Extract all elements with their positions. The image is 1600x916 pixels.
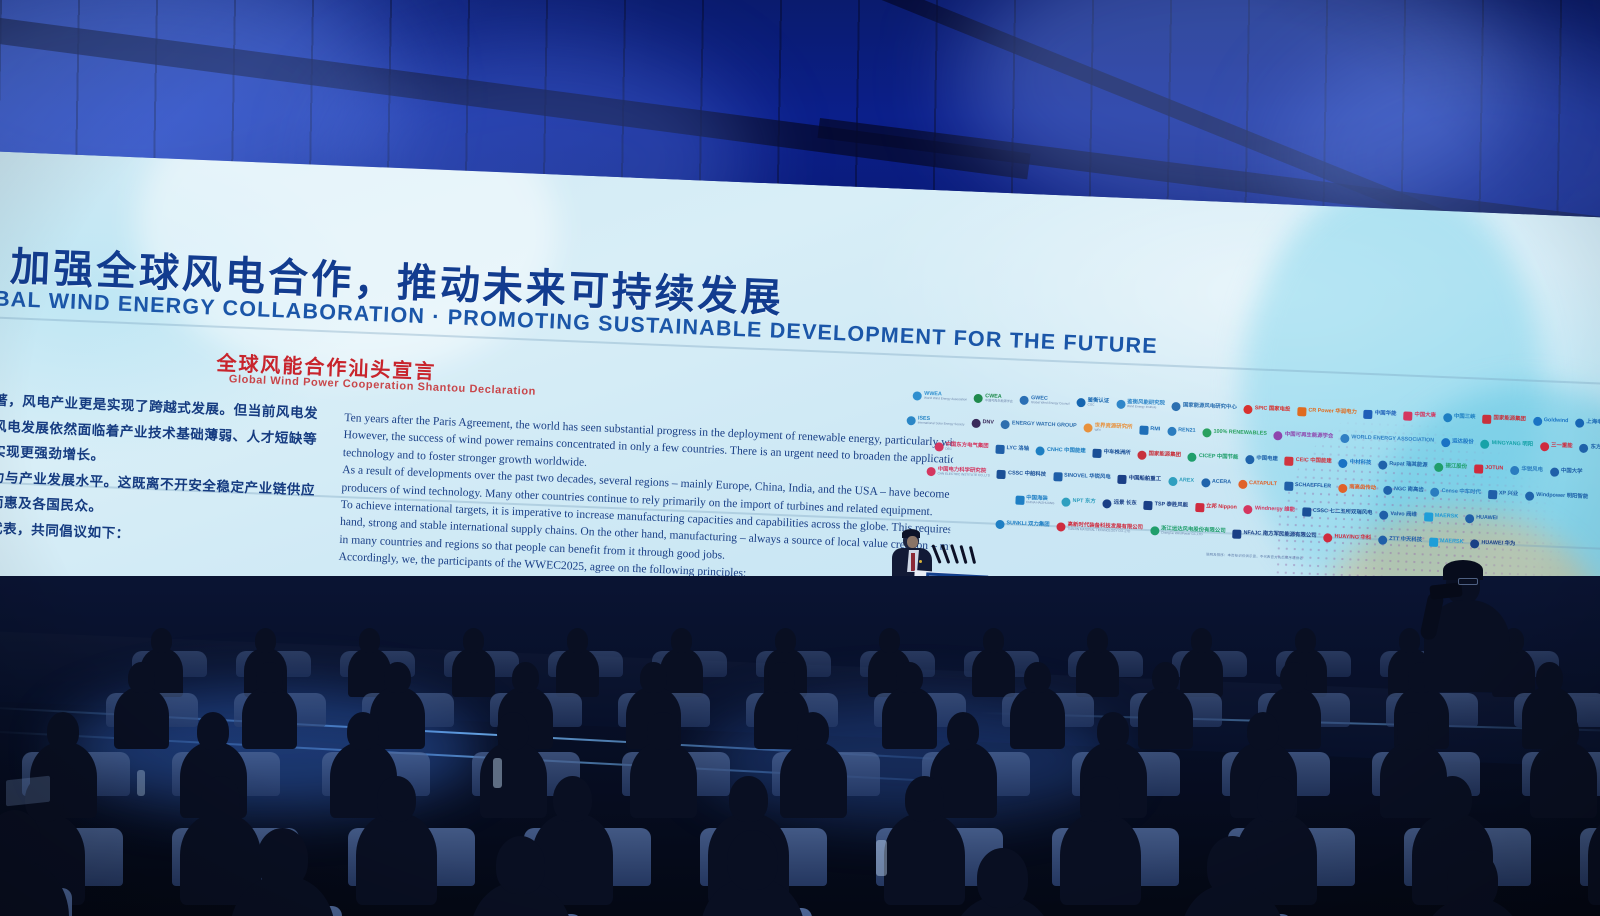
sponsor-logo: CR Power 华润电力 [1297, 407, 1357, 418]
sponsor-logo-name: LYC 洛轴 [1006, 446, 1029, 452]
sponsor-logo-name: 中国华能 [1375, 412, 1397, 418]
sponsor-logo-mark [1168, 476, 1177, 485]
audience-member [972, 628, 1015, 696]
audience-shoulders [1060, 813, 1141, 905]
audience-head [1433, 776, 1472, 822]
audience-head [671, 628, 692, 653]
sponsor-logo-subtitle: World Wind Energy Association [924, 397, 967, 402]
sponsor-logo-name: CICEP 中国节能 [1199, 454, 1239, 461]
audience-head [1207, 836, 1258, 896]
glasses-icon [1458, 578, 1478, 585]
audience-shoulders [452, 648, 495, 698]
sponsor-logo-mark [1238, 479, 1247, 488]
sponsor-logo-name: REN21 [1178, 428, 1196, 434]
audience-head [201, 776, 240, 822]
audience-head [377, 776, 416, 822]
audience-shoulders [630, 742, 697, 818]
audience-shoulders [780, 742, 847, 818]
audience-head [896, 662, 923, 693]
sponsor-logo: 高新时代装备科技发展有限公司TIANJIN MATERIAL TECHNOLOG… [1056, 522, 1143, 535]
audience-member [470, 836, 572, 916]
sponsor-logo: WWEAWorld Wind Energy Association [913, 391, 967, 402]
sponsor-logo-name: ZTT 中天科技 [1389, 537, 1422, 544]
audience-head [797, 712, 829, 750]
audience-head [256, 662, 283, 693]
sponsor-logo-name: 华锐风电 [1521, 468, 1543, 474]
audience-head [640, 662, 667, 693]
audience-head [347, 712, 379, 750]
sponsor-logo-mark [1245, 454, 1254, 463]
sponsor-logo-subtitle: DEC [945, 448, 988, 453]
audience-head [1247, 712, 1279, 750]
audience-member [780, 712, 847, 817]
sponsor-logo: 中材科技 [1339, 458, 1372, 468]
sponsor-logo: HUAYING 华科 [1323, 533, 1371, 544]
sponsor-logo-mark [1001, 419, 1010, 428]
audience-head [1087, 628, 1108, 653]
sponsor-logo-mark [1480, 439, 1489, 448]
sponsor-logo-mark [1540, 442, 1549, 451]
sponsor-logo-mark [1339, 458, 1348, 467]
sponsor-logo-mark [1201, 478, 1210, 487]
sponsor-logo-name: JOTUN [1485, 466, 1503, 472]
sponsor-logo-name: SCHAEFFLER [1295, 483, 1331, 490]
sponsor-logo: 中国大唐 [1403, 411, 1436, 421]
sponsor-logo-name: Windpower 明阳智能 [1536, 493, 1588, 501]
sponsor-logo-mark [1364, 409, 1373, 418]
sponsor-logo: Goldwind [1533, 416, 1569, 426]
sponsor-logo: 中国大学 [1550, 467, 1583, 477]
sponsor-logo-name: CR Power 华润电力 [1308, 409, 1357, 416]
audience-head [983, 628, 1004, 653]
audience-member [556, 628, 599, 696]
sponsor-logo-mark [1378, 535, 1387, 544]
audience-member [1180, 836, 1285, 916]
audience-head [1536, 662, 1563, 693]
sponsor-logo-mark [1053, 472, 1062, 481]
slide-english-body: Ten years after the Paris Agreement, the… [338, 409, 954, 591]
audience-member [1010, 662, 1065, 748]
sponsor-logo: TSP 泰胜风能 [1143, 500, 1188, 511]
sponsor-logo-name: 中国可再生能源学会 [1285, 433, 1334, 440]
sponsor-logo-name: 国家能源集团 [1148, 452, 1181, 459]
sponsor-logo-name: 中材科技 [1350, 461, 1372, 467]
audience-head [1547, 712, 1579, 750]
sponsor-logo: ACERA [1201, 478, 1232, 488]
sponsor-logo: ZTT 中天科技 [1378, 535, 1422, 546]
water-bottle [493, 758, 502, 788]
sponsor-logo-mark [1340, 433, 1349, 442]
sponsor-logo-mark [1470, 539, 1479, 548]
sponsor-logo-name: TSP 泰胜风能 [1154, 503, 1188, 510]
sponsor-logo-mark [1465, 514, 1474, 523]
sponsor-logo-name: MAERSK [1440, 539, 1464, 545]
sponsor-logo: NFAJC 南方军民能源有限公司 [1232, 529, 1316, 541]
audience-head [905, 776, 944, 822]
audience-head [497, 712, 529, 750]
sponsor-logo-mark [1076, 398, 1085, 407]
audience-member [356, 776, 437, 903]
sponsor-logo-subtitle: 中国可再生能源学会 [985, 399, 1013, 403]
sponsor-logo-mark [1150, 526, 1159, 535]
sponsor-logo: 国家能源集团 [1137, 450, 1181, 461]
sponsor-logo: 三一重能 [1540, 442, 1573, 452]
laptop [6, 776, 50, 807]
sponsor-logo: 中国可再生能源学会 [1274, 431, 1334, 442]
sponsor-logo: 中国海装CHINA HAIZHUANG [1015, 495, 1055, 506]
audience-head [512, 662, 539, 693]
sponsor-logo-name: CSSC 中船科技 [1008, 472, 1046, 479]
audience-shoulders [556, 648, 599, 698]
audience-head [128, 662, 155, 693]
audience-head [567, 628, 588, 653]
sponsor-logo-name: 远景 长东 [1113, 501, 1136, 507]
sponsor-logo: 鉴衡风能研究院Wind Energy Institute [1116, 399, 1165, 410]
sponsor-logo-name: 上海电气 [1586, 420, 1600, 426]
sponsor-logo-mark [1143, 500, 1152, 509]
sponsor-logo-mark [1195, 502, 1204, 511]
sponsor-logo: MAERSK [1424, 512, 1459, 522]
audience-member [700, 830, 805, 916]
sponsor-logo-name: Windnergy 维能 [1255, 507, 1295, 514]
sponsor-logo: REN21 [1167, 426, 1196, 436]
sponsor-logo-name: NFAJC 南方军民能源有限公司 [1243, 531, 1316, 539]
sponsor-logo: 中国三峡 [1443, 413, 1476, 423]
sponsor-logo: 国家能源风电研究中心 [1172, 401, 1237, 413]
audience-head [1447, 850, 1498, 910]
sponsor-logo-name: 中国大唐 [1414, 413, 1436, 419]
sponsor-logo-name: 中国三峡 [1454, 415, 1476, 421]
sponsor-logo: 中国华能 [1364, 409, 1397, 419]
sponsor-logo-name: SINOVEL 华锐风电 [1064, 474, 1111, 481]
audience-head [775, 628, 796, 653]
sponsor-logo: XP 兴业 [1488, 489, 1519, 499]
sponsor-logo: RMI [1139, 425, 1160, 435]
sponsor-logo-name: 国家能源风电研究中心 [1183, 404, 1237, 412]
sponsor-logo-name: SPIC 国家电投 [1255, 407, 1291, 414]
sponsor-logo-mark [1137, 450, 1146, 459]
audience-member [230, 828, 335, 916]
sponsor-logo: Windnergy 维能 [1244, 504, 1295, 515]
sponsor-logo-mark [1510, 465, 1519, 474]
audience-head [947, 712, 979, 750]
audience-member [452, 628, 495, 696]
sponsor-logo: 中车株洲所 [1092, 448, 1130, 459]
sponsor-logo-subtitle: CHINA HAIZHUANG [1026, 501, 1055, 505]
sponsor-logo: WORLD ENERGY ASSOCIATION [1340, 433, 1434, 446]
sponsor-logo-mark [1202, 428, 1211, 437]
sponsor-logo-mark [1167, 426, 1176, 435]
sponsor-logo-mark [1403, 411, 1412, 420]
sponsor-logo-mark [1482, 414, 1491, 423]
sponsor-logo-mark [1102, 499, 1111, 508]
sponsor-logo-mark [1117, 474, 1126, 483]
sponsor-logo: Rupat 瑞其能源 [1378, 460, 1428, 471]
audience-head [463, 628, 484, 653]
audience-shoulders [1530, 742, 1597, 818]
sponsor-logo: 100% RENEWABLES [1202, 428, 1267, 440]
sponsor-logo-mark [1488, 489, 1497, 498]
audience-shoulders [882, 687, 937, 749]
audience-member [882, 662, 937, 748]
sponsor-logo: 中国电建 [1245, 454, 1278, 464]
audience-member [1420, 850, 1525, 916]
sponsor-logo: 东方电气 [1579, 443, 1600, 453]
audience-head [1152, 662, 1179, 693]
sponsor-logo: Cense 中车时代 [1430, 487, 1481, 498]
sponsor-logo-mark [1550, 467, 1559, 476]
audience-member [1530, 712, 1597, 817]
audience-shoulders [114, 687, 169, 749]
sponsor-logo-mark [1474, 464, 1483, 473]
audience-head [768, 662, 795, 693]
audience-head [359, 628, 380, 653]
sponsor-logo-mark [1575, 418, 1584, 427]
sponsor-logo-name: HUAWEI [1476, 516, 1498, 522]
microphone-cluster [935, 544, 981, 574]
sponsor-logo: NPT 东方 [1061, 497, 1095, 507]
sponsor-logo-mark [1139, 425, 1148, 434]
sponsor-logo-mark [1430, 487, 1439, 496]
sponsor-logo: CNHC 中国能建 [1036, 446, 1086, 457]
sponsor-logo-name: DNV [982, 420, 994, 426]
audience-head [1024, 662, 1051, 693]
water-bottle [137, 770, 145, 796]
sponsor-logo-name: CSSC 七二五所双瑞风电 [1313, 509, 1373, 517]
sponsor-logo-mark [1378, 460, 1387, 469]
sponsor-logo-name: WORLD ENERGY ASSOCIATION [1351, 436, 1434, 445]
sponsor-logo-mark [995, 444, 1004, 453]
audience-shoulders [1588, 813, 1600, 905]
sponsor-logo: 立邦 Nippon [1195, 502, 1237, 513]
sponsor-logo-name: NGC 南高齿 [1394, 487, 1424, 494]
sponsor-logo: JOTUN [1474, 464, 1504, 474]
sponsor-logo: 中国船舶重工 [1117, 474, 1161, 485]
sponsor-logo-mark [1284, 481, 1293, 490]
microphone [969, 546, 976, 564]
sponsor-logo-mark [1061, 497, 1070, 506]
audience-head [257, 828, 308, 888]
sponsor-logo-mark [1429, 537, 1438, 546]
speaker-face [907, 536, 918, 548]
water-bottle [876, 840, 887, 876]
sponsor-logo-mark [1092, 448, 1101, 457]
sponsor-logo: CICEP 中国节能 [1188, 452, 1239, 463]
sponsor-logo-name: CEIC 中国能建 [1296, 458, 1332, 465]
sponsor-logo: SINOVEL 华锐风电 [1053, 472, 1111, 483]
audience-head [1191, 628, 1212, 653]
sponsor-logo: ISESInternational Solar Energy Society [907, 416, 965, 427]
sponsor-logo: GWECGlobal Wind Energy Council [1020, 395, 1070, 406]
sponsor-logo-name: Cense 中车时代 [1442, 489, 1481, 496]
sponsor-logo: 国家能源集团 [1482, 414, 1526, 425]
sponsor-logo: ENERGY WATCH GROUP [1001, 419, 1077, 431]
sponsor-logo-name: 中国船舶重工 [1129, 476, 1162, 483]
audience-head [496, 836, 545, 894]
sponsor-logo: 浙江运达风电股份有限公司ChengTai WindPower Co.,LTD [1150, 526, 1226, 538]
audience-member [1076, 628, 1119, 696]
audience [0, 600, 1600, 916]
audience-head [47, 712, 79, 750]
audience-head [197, 712, 229, 750]
sponsor-logo-name: MINGYANG 明阳 [1491, 441, 1533, 448]
audience-head [151, 628, 172, 653]
audience-head [384, 662, 411, 693]
sponsor-logo-mark [1379, 510, 1388, 519]
sponsor-logo-name: AREX [1179, 479, 1194, 485]
sponsor-logo: CEIC 中国能建 [1285, 456, 1332, 467]
audience-head [1295, 628, 1316, 653]
sponsor-logo-mark [1579, 443, 1588, 452]
sponsor-logo-mark [1297, 407, 1306, 416]
sponsor-logo-name: 立邦 Nippon [1206, 505, 1237, 512]
sponsor-logo-mark [1424, 512, 1433, 521]
microphone [959, 545, 967, 564]
sponsor-logo-name: 三一重能 [1551, 444, 1573, 450]
audience-head [729, 776, 768, 822]
audience-member [1060, 776, 1141, 903]
sponsor-logo: MAERSK [1429, 537, 1464, 547]
sponsor-logo-mark [907, 416, 916, 425]
audience-member [0, 810, 69, 916]
sponsor-logo-mark [1020, 395, 1029, 404]
speaker-lapel-pin [919, 560, 922, 563]
sponsor-logo: CATAPULT [1238, 479, 1277, 490]
sponsor-logo: Valvo 阀维 [1379, 510, 1417, 521]
sponsor-logo-name: NPT 东方 [1072, 499, 1095, 505]
sponsor-logo: CSSC 中船科技 [997, 469, 1046, 480]
sponsor-logo-mark [1338, 483, 1347, 492]
sponsor-logo-mark [1244, 504, 1253, 513]
audience-head [879, 628, 900, 653]
conference-hall-scene: 加强全球风电合作，推动未来可持续发展 GLOBAL WIND ENERGY CO… [0, 0, 1600, 916]
sponsor-logo-mark [1056, 522, 1065, 531]
microphone [931, 544, 941, 564]
audience-member [114, 662, 169, 748]
sponsor-logo: 上海电气 [1575, 418, 1600, 428]
sponsor-logo-subtitle: Global Wind Energy Council [1031, 401, 1070, 406]
sponsor-logo-mark [1533, 416, 1542, 425]
sponsor-logo: AREX [1168, 476, 1194, 486]
sponsor-logo-name: Rupat 瑞其能源 [1389, 462, 1428, 469]
sponsor-logo-name: 中国大学 [1561, 469, 1583, 475]
sponsor-logo: 南高齿传动 [1338, 483, 1376, 494]
sponsor-logo-subtitle: CGC [1087, 404, 1109, 408]
sponsor-logo-name: 运达股份 [1452, 440, 1474, 446]
sponsor-logo: HUAWEI [1465, 514, 1498, 524]
audience-head [1081, 776, 1120, 822]
sponsor-logo-name: 100% RENEWABLES [1213, 430, 1267, 438]
sponsor-logo-name: CNHC 中国能建 [1047, 448, 1086, 455]
audience-member [1588, 776, 1600, 903]
sponsor-logo-name: HUAWEI 华为 [1481, 541, 1515, 548]
sponsor-logo-mark [1434, 462, 1443, 471]
sponsor-logo-name: 东方电气 [1590, 445, 1600, 451]
sponsor-logo: 振江股份 [1434, 462, 1467, 472]
sponsor-logo-name: RMI [1150, 427, 1160, 433]
sponsor-logo-mark [971, 418, 980, 427]
sponsor-logo-mark [1036, 446, 1045, 455]
sponsor-logo: CWEA中国可再生能源学会 [974, 393, 1013, 404]
audience-head [1257, 776, 1296, 822]
sponsor-logo-name: Goldwind [1544, 418, 1569, 424]
sponsor-logo-mark [1302, 507, 1311, 516]
sponsor-logo-mark [1244, 404, 1253, 413]
sponsor-logo-name: CATAPULT [1249, 481, 1277, 488]
sponsor-logo-name: ACERA [1212, 480, 1231, 486]
sponsor-logo-mark [1285, 456, 1294, 465]
sponsor-logo: 运达股份 [1441, 437, 1474, 447]
photographer [1418, 548, 1538, 688]
sponsor-logo: MINGYANG 明阳 [1480, 439, 1533, 450]
sponsor-logo: NGC 南高齿 [1383, 485, 1424, 496]
microphone [950, 544, 959, 564]
sponsor-logo: 华锐风电 [1510, 465, 1543, 475]
sponsor-logo: 远景 长东 [1102, 499, 1136, 509]
sponsor-logo-subtitle: Wind Energy Institute [1127, 405, 1165, 410]
sponsor-logo-name: 中国电建 [1256, 457, 1278, 463]
audience-head [1397, 712, 1429, 750]
audience-shoulders [242, 687, 297, 749]
sponsor-logo-mark [1188, 452, 1197, 461]
audience-head [977, 848, 1028, 908]
photographer-hair [1443, 560, 1483, 580]
sponsor-logo-mark [997, 469, 1006, 478]
sponsor-logo: DNV [971, 418, 994, 428]
sponsor-logo-name: ENERGY WATCH GROUP [1012, 422, 1077, 430]
sponsor-logo-name: 振江股份 [1445, 464, 1467, 470]
sponsor-logo: LYC 洛轴 [995, 444, 1029, 454]
sponsor-logo-mark [934, 442, 943, 451]
audience-shoulders [356, 813, 437, 905]
sponsor-logo-name: Valvo 阀维 [1390, 512, 1417, 518]
audience-head [727, 830, 778, 890]
sponsor-logo-name: XP 兴业 [1499, 492, 1519, 498]
sponsor-logo-mark [1274, 431, 1283, 440]
microphone [941, 544, 951, 564]
sponsor-logo-name: HUAYING 华科 [1334, 535, 1371, 542]
audience-head [553, 776, 592, 822]
sponsor-logo: CSSC 七二五所双瑞风电 [1302, 507, 1373, 519]
sponsor-logo: Windpower 明阳智能 [1525, 491, 1588, 503]
sponsor-logo-mark [1172, 401, 1181, 410]
audience-head [647, 712, 679, 750]
sponsor-logo: SCHAEFFLER [1284, 481, 1332, 492]
audience-shoulders [1010, 687, 1065, 749]
audience-head [255, 628, 276, 653]
sponsor-logo-mark [1323, 533, 1332, 542]
audience-member [950, 848, 1055, 916]
sponsor-logo-mark [1232, 529, 1241, 538]
sponsor-logo-mark [1116, 399, 1125, 408]
sponsor-logo-name: 国家能源集团 [1493, 416, 1526, 423]
sponsor-logo-mark [974, 393, 983, 402]
sponsor-logo-mark [1083, 423, 1092, 432]
slide-chinese-body: 域成效卓著，风电产业更是实现了跨越式发展。但当前风电发场国家，风电发展依然面临着… [0, 385, 318, 553]
sponsor-logo: 鉴衡认证CGC [1076, 398, 1109, 408]
sponsor-logo-name: 中车株洲所 [1103, 450, 1130, 457]
audience-head [1097, 712, 1129, 750]
sponsor-logo-subtitle: International Solar Energy Society [918, 422, 965, 427]
audience-shoulders [972, 648, 1015, 698]
sponsor-logo-mark [1443, 413, 1452, 422]
sponsor-logo-mark [1015, 495, 1024, 504]
sponsor-logo-mark [1441, 437, 1450, 446]
sponsor-logo-subtitle: WRI [1094, 429, 1132, 434]
sponsor-logo-name: MAERSK [1435, 514, 1459, 520]
sponsor-logo: SPIC 国家电投 [1244, 404, 1291, 415]
sponsor-logo-name: 南高齿传动 [1349, 486, 1376, 493]
